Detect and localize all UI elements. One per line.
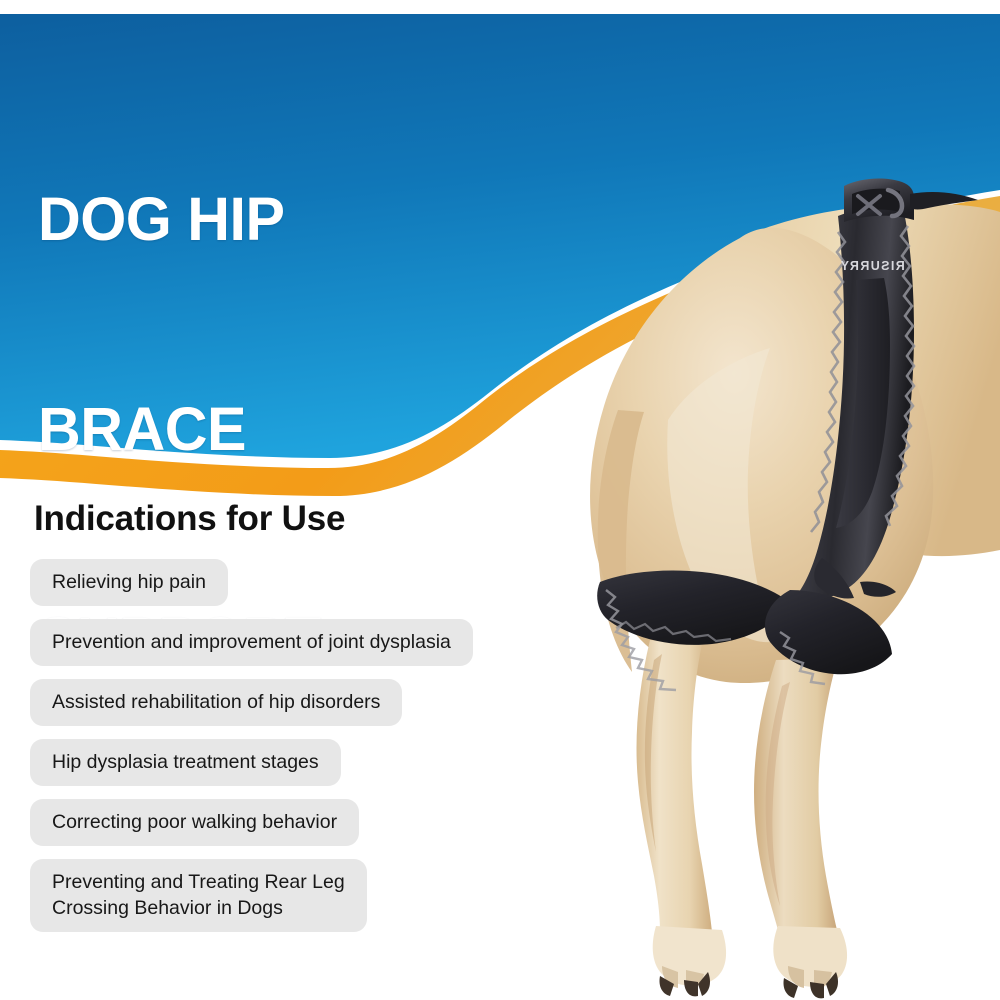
indication-pill-1: Relieving hip pain <box>30 559 228 606</box>
list-item: Hip dysplasia treatment stages <box>30 739 530 799</box>
list-item: Assisted rehabilitation of hip disorders <box>30 679 530 739</box>
list-item: Preventing and Treating Rear Leg Crossin… <box>30 859 530 945</box>
title-line-1: DOG HIP <box>38 184 321 254</box>
indications-heading: Indications for Use <box>30 498 530 540</box>
indication-pill-5: Correcting poor walking behavior <box>30 799 359 846</box>
indication-pill-6: Preventing and Treating Rear Leg Crossin… <box>30 859 367 932</box>
list-item: Relieving hip pain <box>30 559 530 619</box>
indication-pill-4: Hip dysplasia treatment stages <box>30 739 341 786</box>
indication-pill-3: Assisted rehabilitation of hip disorders <box>30 679 402 726</box>
brand-label: RISURRY <box>839 259 905 273</box>
indication-pill-2: Prevention and improvement of joint dysp… <box>30 619 473 666</box>
dog-paw-left <box>653 926 726 996</box>
product-infographic: DOG HIP BRACE SUPPORT <box>0 0 1000 1000</box>
dog-paw-right <box>773 926 847 998</box>
indications-section: Indications for Use Relieving hip pain P… <box>30 498 530 945</box>
dog-illustration: RISURRY <box>590 179 1000 999</box>
list-item: Prevention and improvement of joint dysp… <box>30 619 530 679</box>
list-item: Correcting poor walking behavior <box>30 799 530 859</box>
title-line-2: BRACE <box>38 394 321 464</box>
